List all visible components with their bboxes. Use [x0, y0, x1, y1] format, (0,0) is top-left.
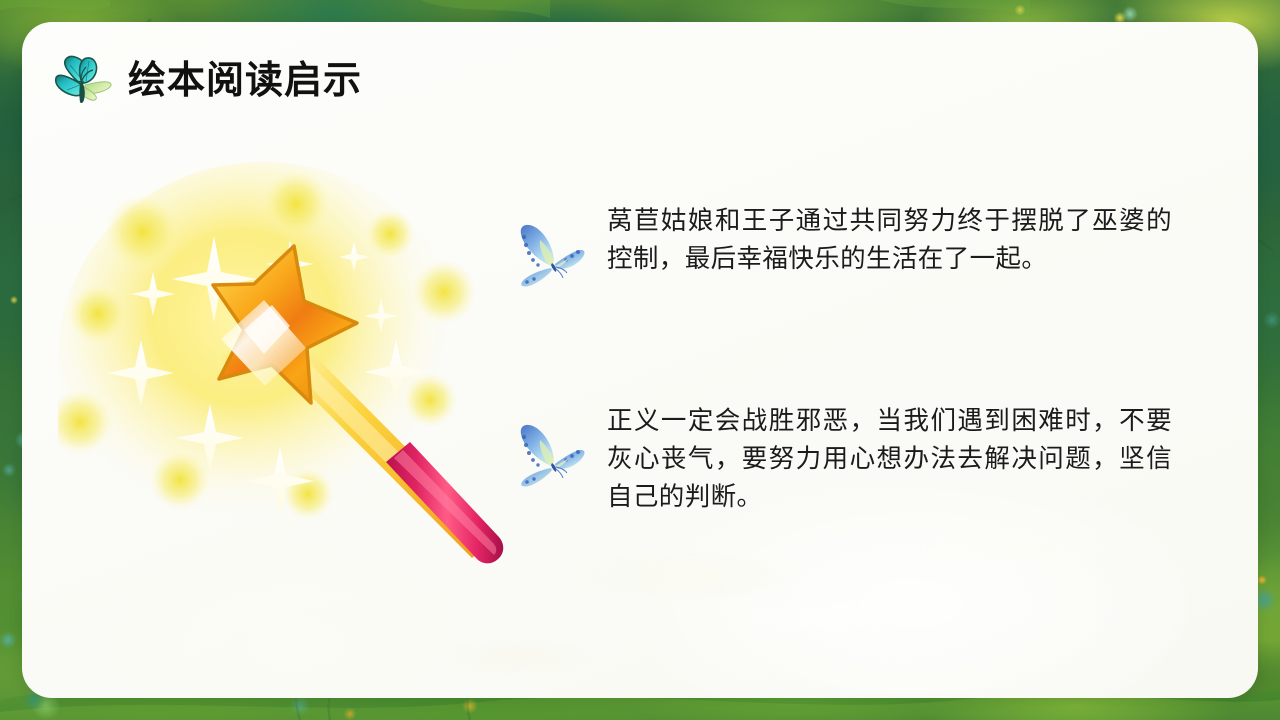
- list-item: 正义一定会战胜邪恶，当我们遇到困难时，不要灰心丧气，要努力用心想办法去解决问题，…: [507, 402, 1207, 516]
- insight-list: 莴苣姑娘和王子通过共同努力终于摆脱了巫婆的控制，最后幸福快乐的生活在了一起。: [507, 202, 1207, 516]
- list-item-text: 莴苣姑娘和王子通过共同努力终于摆脱了巫婆的控制，最后幸福快乐的生活在了一起。: [607, 202, 1172, 278]
- list-item-text: 正义一定会战胜邪恶，当我们遇到困难时，不要灰心丧气，要努力用心想办法去解决问题，…: [607, 402, 1172, 516]
- butterfly-bullet-icon: [507, 420, 593, 494]
- list-item: 莴苣姑娘和王子通过共同努力终于摆脱了巫婆的控制，最后幸福快乐的生活在了一起。: [507, 202, 1207, 294]
- page-title: 绘本阅读启示: [128, 61, 362, 99]
- content-card: 绘本阅读启示: [22, 22, 1258, 698]
- butterfly-icon: [48, 50, 114, 110]
- magic-wand-illustration: [58, 162, 528, 612]
- butterfly-bullet-icon: [507, 220, 593, 294]
- slide-root: 绘本阅读启示: [0, 0, 1280, 720]
- slide-header: 绘本阅读启示: [48, 50, 362, 110]
